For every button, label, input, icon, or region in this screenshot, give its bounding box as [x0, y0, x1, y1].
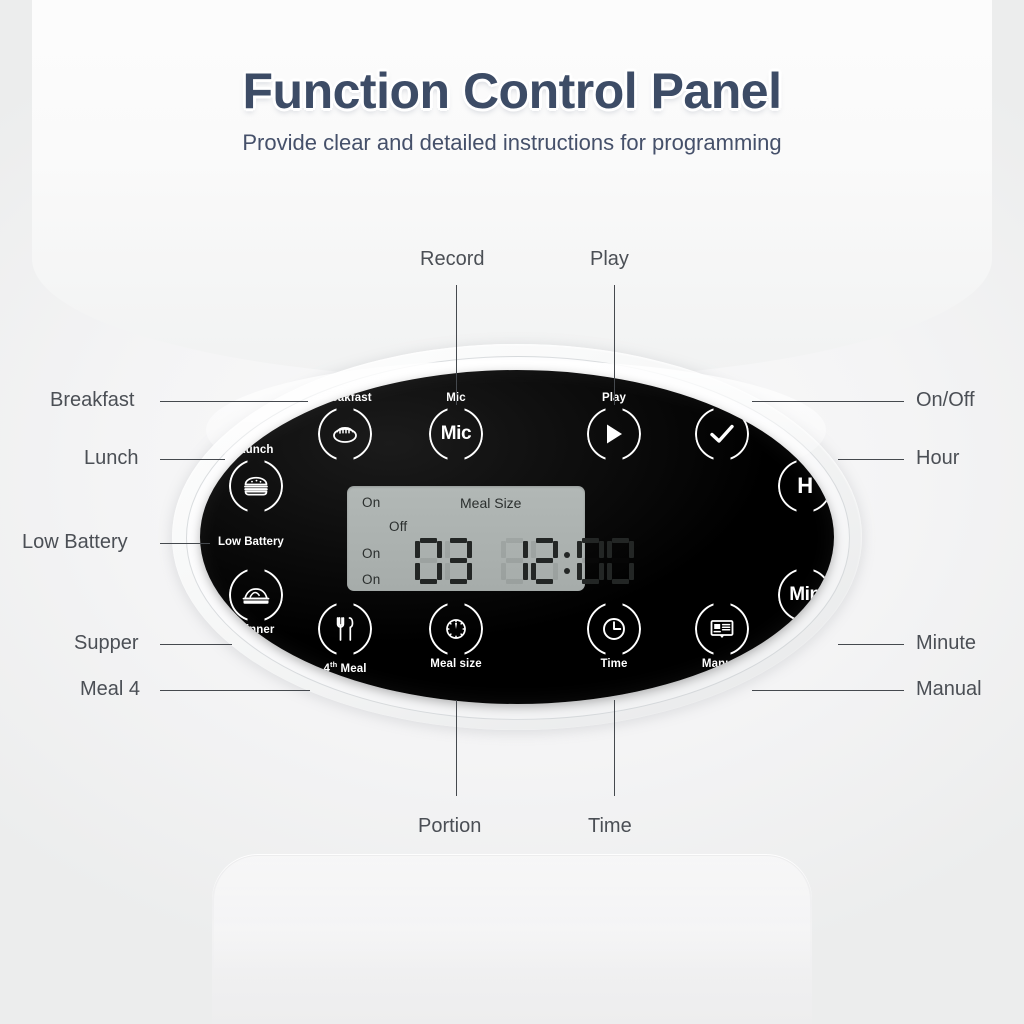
button-hour[interactable]: Hour H — [776, 444, 834, 513]
device-body-top — [32, 0, 992, 380]
mic-text-icon: Mic — [429, 407, 483, 461]
annotation-portion: Portion — [418, 815, 481, 838]
page-subtitle: Provide clear and detailed instructions … — [0, 130, 1024, 156]
leader-portion — [456, 700, 457, 796]
lcd-state-2: Off — [389, 519, 407, 534]
annotation-play-top: Play — [590, 248, 629, 271]
button-dinner-ring[interactable] — [229, 568, 283, 622]
check-icon — [695, 407, 749, 461]
burger-icon — [229, 459, 283, 513]
button-meal4[interactable]: 4th Meal — [316, 600, 374, 676]
annotation-record: Record — [420, 248, 484, 271]
button-lunch[interactable]: Lunch — [227, 444, 285, 513]
leader-supper — [160, 644, 232, 645]
button-lunch-ring[interactable] — [229, 459, 283, 513]
annotation-supper: Supper — [74, 632, 139, 655]
button-hour-label: Hour — [776, 444, 834, 457]
annotation-minute: Minute — [916, 632, 976, 655]
seven-segment-digit — [607, 538, 634, 584]
button-breakfast[interactable]: Breakfast — [316, 392, 374, 461]
seven-segment-digit — [531, 538, 558, 584]
seven-segment-digit — [577, 538, 604, 584]
leader-minute — [838, 644, 904, 645]
button-time-label: Time — [585, 658, 643, 671]
leader-play-top — [614, 285, 615, 405]
button-mic-ring[interactable]: Mic — [429, 407, 483, 461]
page-title: Function Control Panel — [0, 62, 1024, 120]
lcd-state-1: On — [362, 495, 380, 510]
seven-segment-digit — [445, 538, 472, 584]
button-manual-ring[interactable] — [695, 602, 749, 656]
button-minute-label: Minute — [776, 624, 834, 637]
leader-time-bottom — [614, 700, 615, 796]
button-onoff-ring[interactable] — [695, 407, 749, 461]
button-mealsize-label: Meal size — [427, 658, 485, 671]
indicator-low-battery: Low Battery — [218, 536, 284, 548]
pie-icon — [229, 568, 283, 622]
annotation-onoff: On/Off — [916, 389, 975, 412]
leader-hour — [838, 459, 904, 460]
button-dinner-label: Dinner — [227, 624, 285, 637]
leader-breakfast — [160, 401, 308, 402]
device-body-bottom — [212, 854, 812, 1024]
annotation-meal-4: Meal 4 — [80, 678, 140, 701]
lcd-state-3: On — [362, 546, 380, 561]
leader-manual — [752, 690, 904, 691]
lcd-time-hours — [501, 538, 561, 584]
annotation-lunch: Lunch — [84, 447, 139, 470]
button-meal4-tail: Meal — [337, 663, 366, 675]
button-breakfast-ring[interactable] — [318, 407, 372, 461]
fork-knife-icon — [318, 602, 372, 656]
button-meal4-ring[interactable] — [318, 602, 372, 656]
button-manual[interactable]: Manual — [693, 600, 751, 671]
button-time[interactable]: Time — [585, 600, 643, 671]
button-time-ring[interactable] — [587, 602, 641, 656]
lcd-display: On Off On On Meal Size — [347, 486, 585, 591]
button-hour-ring[interactable]: H — [778, 459, 832, 513]
seven-segment-digit — [415, 538, 442, 584]
book-icon — [695, 602, 749, 656]
lcd-colon — [561, 538, 574, 584]
hour-text-icon: H — [778, 459, 832, 513]
button-mealsize[interactable]: Meal size — [427, 600, 485, 671]
button-onoff[interactable]: On/Off — [693, 392, 751, 461]
annotation-time-bottom: Time — [588, 815, 632, 838]
lcd-portion-value — [415, 538, 475, 584]
clock-icon — [587, 602, 641, 656]
control-panel: On Off On On Meal Size Breakfast — [200, 370, 834, 704]
lcd-meal-size-label: Meal Size — [460, 495, 521, 511]
play-icon — [587, 407, 641, 461]
lcd-seven-segment-row — [415, 538, 637, 584]
gauge-icon — [429, 602, 483, 656]
lcd-state-4: On — [362, 572, 380, 587]
seven-segment-digit — [501, 538, 528, 584]
button-onoff-label: On/Off — [693, 392, 751, 405]
annotation-manual: Manual — [916, 678, 982, 701]
button-play-ring[interactable] — [587, 407, 641, 461]
button-minute-ring[interactable]: Min — [778, 568, 832, 622]
leader-record — [456, 285, 457, 405]
leader-meal-4 — [160, 690, 310, 691]
button-manual-label: Manual — [693, 658, 751, 671]
lcd-time-minutes — [577, 538, 637, 584]
leader-low-battery — [160, 543, 210, 544]
button-meal4-label: 4th Meal — [316, 658, 374, 676]
button-lunch-label: Lunch — [227, 444, 285, 457]
button-breakfast-label: Breakfast — [316, 392, 374, 405]
leader-lunch — [160, 459, 225, 460]
button-minute[interactable]: Min Minute — [776, 566, 834, 637]
bread-icon — [318, 407, 372, 461]
button-dinner[interactable]: Dinner — [227, 566, 285, 637]
annotation-hour: Hour — [916, 447, 959, 470]
screenshot-root: Function Control Panel Provide clear and… — [0, 0, 1024, 1024]
button-mealsize-ring[interactable] — [429, 602, 483, 656]
leader-onoff — [752, 401, 904, 402]
annotation-low-battery: Low Battery — [22, 531, 128, 554]
min-text-icon: Min — [778, 568, 832, 622]
annotation-breakfast: Breakfast — [50, 389, 134, 412]
